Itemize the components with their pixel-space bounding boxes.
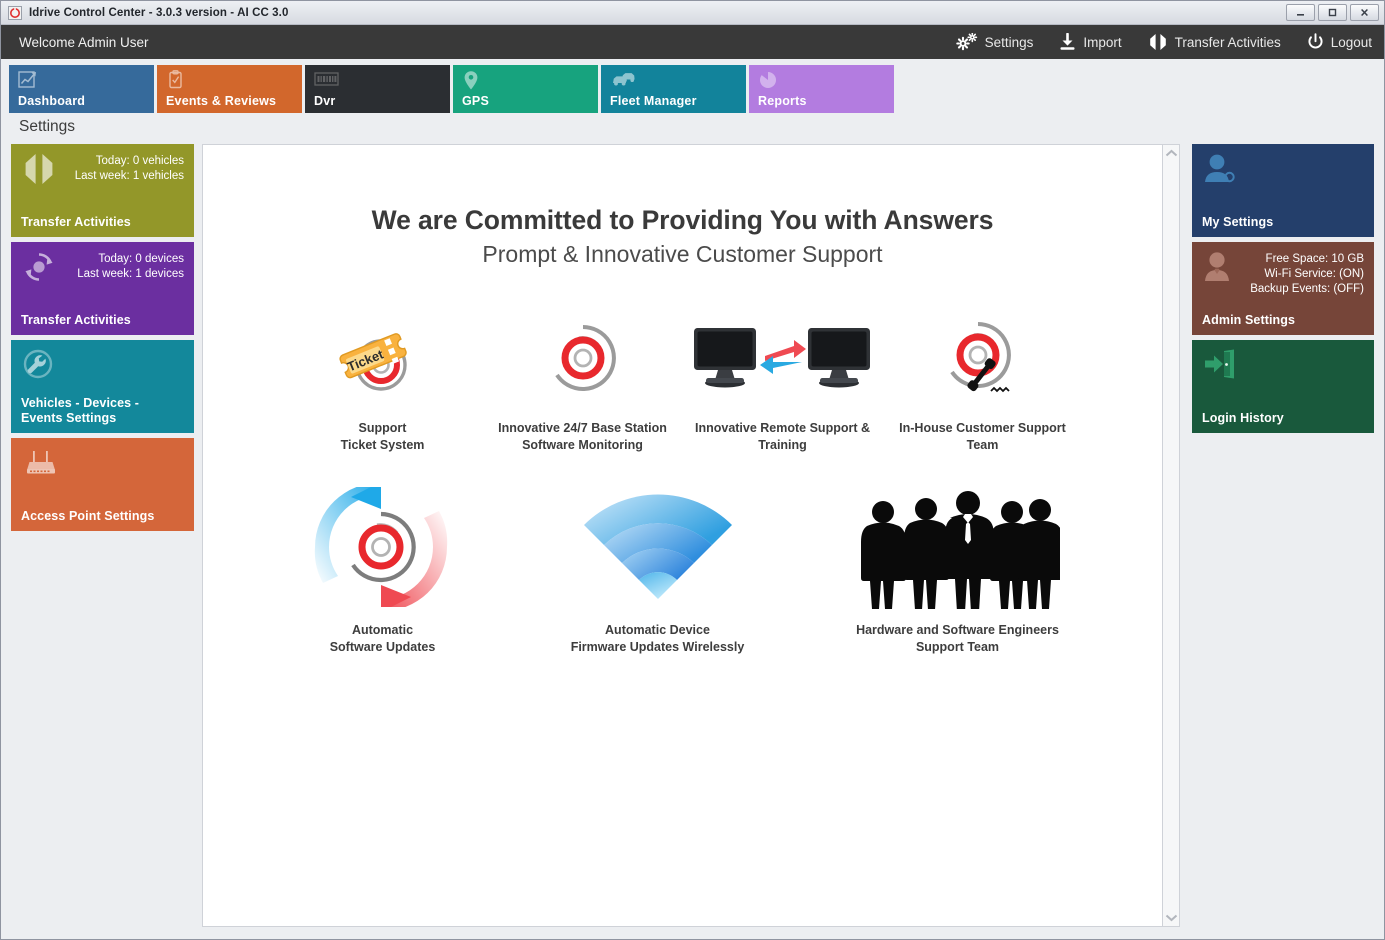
- clipboard-check-icon: [166, 70, 188, 95]
- engineers-team-icon: [855, 482, 1060, 612]
- tab-reports-label: Reports: [758, 94, 807, 108]
- feature-remote-support-training: Innovative Remote Support & Training: [683, 308, 883, 454]
- map-pin-icon: [462, 70, 480, 97]
- tile-access-point-settings[interactable]: Access Point Settings: [11, 438, 194, 531]
- app-header: Welcome Admin User: [1, 25, 1384, 59]
- close-button[interactable]: [1350, 4, 1379, 21]
- tile-label: Transfer Activities: [21, 313, 184, 328]
- content-area: Today: 0 vehicles Last week: 1 vehicles …: [1, 144, 1384, 939]
- tile-stats: Today: 0 vehicles Last week: 1 vehicles: [75, 152, 184, 184]
- tab-dvr-label: Dvr: [314, 94, 335, 108]
- app-logo-icon: [8, 6, 22, 20]
- feature-label: Support Ticket System: [341, 420, 425, 454]
- feature-label: Automatic Software Updates: [330, 622, 436, 656]
- feature-label-line1: Innovative 24/7 Base Station: [498, 420, 667, 437]
- feature-row-1: Ticket Support: [233, 308, 1132, 454]
- feature-engineers-support-team: Hardware and Software Engineers Support …: [808, 482, 1108, 656]
- tab-gps[interactable]: GPS: [453, 65, 598, 113]
- tile-label: My Settings: [1202, 215, 1364, 230]
- welcome-message: Welcome Admin User: [19, 35, 149, 50]
- feature-label: Hardware and Software Engineers Support …: [856, 622, 1059, 656]
- promo-heading: We are Committed to Providing You with A…: [233, 205, 1132, 235]
- feature-label-line2: Ticket System: [341, 437, 425, 454]
- header-menu: Settings Import: [956, 33, 1372, 51]
- tab-dvr[interactable]: Dvr: [305, 65, 450, 113]
- transfer-arrows-icon: [21, 152, 57, 191]
- tile-stat-line: Today: 0 devices: [77, 252, 184, 267]
- login-arrow-icon: [1202, 348, 1238, 385]
- tile-stats: Free Space: 10 GB Wi-Fi Service: (ON) Ba…: [1250, 250, 1364, 297]
- feature-label-line1: Hardware and Software Engineers: [856, 622, 1059, 639]
- tile-vehicles-devices-events-settings[interactable]: Vehicles - Devices - Events Settings: [11, 340, 194, 433]
- feature-support-ticket-system: Ticket Support: [283, 308, 483, 454]
- feature-label-line1: Automatic Device: [571, 622, 745, 639]
- admin-user-icon: [1202, 250, 1236, 289]
- phone-support-icon: [935, 308, 1031, 408]
- feature-label: In-House Customer Support Team: [899, 420, 1066, 454]
- feature-label-line2: Software Monitoring: [498, 437, 667, 454]
- tab-events-reviews[interactable]: Events & Reviews: [157, 65, 302, 113]
- window-controls: [1286, 4, 1382, 21]
- base-station-monitor-icon: [540, 308, 626, 408]
- window-title: Idrive Control Center - 3.0.3 version - …: [29, 7, 288, 19]
- tab-reports[interactable]: Reports: [749, 65, 894, 113]
- feature-label-line2: Support Team: [856, 639, 1059, 656]
- tile-label: Login History: [1202, 411, 1364, 426]
- remote-support-icon: [690, 308, 875, 408]
- tab-fleet-manager[interactable]: Fleet Manager: [601, 65, 746, 113]
- feature-label: Innovative 24/7 Base Station Software Mo…: [498, 420, 667, 454]
- feature-automatic-software-updates: Automatic Software Updates: [258, 482, 508, 656]
- tile-my-settings[interactable]: My Settings: [1192, 144, 1374, 237]
- feature-label-line1: Support: [341, 420, 425, 437]
- tile-stats: Today: 0 devices Last week: 1 devices: [77, 250, 184, 282]
- tab-gps-label: GPS: [462, 94, 489, 108]
- header-transfer-activities-button[interactable]: Transfer Activities: [1148, 33, 1281, 51]
- feature-label-line2: Software Updates: [330, 639, 436, 656]
- tile-stat-line: Last week: 1 vehicles: [75, 169, 184, 184]
- software-update-icon: [293, 482, 473, 612]
- application-window: Idrive Control Center - 3.0.3 version - …: [0, 0, 1385, 940]
- feature-label: Innovative Remote Support & Training: [695, 420, 870, 454]
- main-panel: We are Committed to Providing You with A…: [202, 144, 1163, 927]
- promo-subheading: Prompt & Innovative Customer Support: [233, 241, 1132, 267]
- vertical-scrollbar[interactable]: [1163, 144, 1180, 927]
- feature-base-station-monitoring: Innovative 24/7 Base Station Software Mo…: [483, 308, 683, 454]
- user-gear-icon: [1202, 152, 1240, 191]
- tab-dashboard[interactable]: Dashboard: [9, 65, 154, 113]
- scroll-down-icon[interactable]: [1165, 913, 1178, 922]
- tile-label: Vehicles - Devices - Events Settings: [21, 396, 184, 426]
- tile-label: Admin Settings: [1202, 313, 1364, 328]
- feature-in-house-customer-support: In-House Customer Support Team: [883, 308, 1083, 454]
- sync-device-icon: [21, 250, 57, 289]
- tile-stat-line: Last week: 1 devices: [77, 267, 184, 282]
- minimize-button[interactable]: [1286, 4, 1315, 21]
- header-logout-label: Logout: [1331, 35, 1372, 50]
- title-bar: Idrive Control Center - 3.0.3 version - …: [1, 1, 1384, 25]
- feature-label-line1: Automatic: [330, 622, 436, 639]
- tile-stat-line: Today: 0 vehicles: [75, 154, 184, 169]
- router-icon: [21, 446, 61, 483]
- tab-events-reviews-label: Events & Reviews: [166, 94, 276, 108]
- wifi-icon: [578, 482, 738, 612]
- tile-admin-settings[interactable]: Free Space: 10 GB Wi-Fi Service: (ON) Ba…: [1192, 242, 1374, 335]
- tile-stat-line: Free Space: 10 GB: [1250, 252, 1364, 267]
- header-logout-button[interactable]: Logout: [1307, 33, 1372, 51]
- maximize-button[interactable]: [1318, 4, 1347, 21]
- header-import-button[interactable]: Import: [1059, 33, 1121, 51]
- support-ticket-icon: Ticket: [335, 308, 431, 408]
- header-settings-button[interactable]: Settings: [956, 33, 1034, 51]
- feature-row-2: Automatic Software Updates: [233, 482, 1132, 656]
- header-transfer-label: Transfer Activities: [1175, 35, 1281, 50]
- page-title: Settings: [1, 116, 1384, 144]
- pie-chart-icon: [758, 70, 778, 95]
- tab-dashboard-label: Dashboard: [18, 94, 85, 108]
- tile-login-history[interactable]: Login History: [1192, 340, 1374, 433]
- download-icon: [1059, 33, 1076, 51]
- tile-label: Access Point Settings: [21, 509, 184, 524]
- transfer-arrows-icon: [1148, 33, 1168, 51]
- tile-label: Transfer Activities: [21, 215, 184, 230]
- tile-transfer-activities-devices[interactable]: Today: 0 devices Last week: 1 devices Tr…: [11, 242, 194, 335]
- promo-content: We are Committed to Providing You with A…: [203, 145, 1162, 656]
- feature-automatic-firmware-updates: Automatic Device Firmware Updates Wirele…: [508, 482, 808, 656]
- tab-fleet-manager-label: Fleet Manager: [610, 94, 697, 108]
- feature-label-line2: Training: [695, 437, 870, 454]
- feature-label-line1: In-House Customer Support: [899, 420, 1066, 437]
- wrench-icon: [21, 348, 55, 385]
- scroll-up-icon[interactable]: [1165, 149, 1178, 158]
- tile-transfer-activities-vehicles[interactable]: Today: 0 vehicles Last week: 1 vehicles …: [11, 144, 194, 237]
- feature-label: Automatic Device Firmware Updates Wirele…: [571, 622, 745, 656]
- feature-label-line1: Innovative Remote Support &: [695, 420, 870, 437]
- feature-label-line2: Firmware Updates Wirelessly: [571, 639, 745, 656]
- tile-stat-line: Backup Events: (OFF): [1250, 282, 1364, 297]
- chart-trend-icon: [18, 70, 40, 95]
- header-import-label: Import: [1083, 35, 1121, 50]
- vehicles-icon: [610, 70, 640, 95]
- power-icon: [1307, 33, 1324, 51]
- gears-icon: [956, 33, 978, 51]
- feature-label-line2: Team: [899, 437, 1066, 454]
- dvr-icon: [314, 70, 340, 95]
- main-panel-wrapper: We are Committed to Providing You with A…: [202, 144, 1180, 927]
- header-settings-label: Settings: [985, 35, 1034, 50]
- main-tab-strip: Dashboard Events & Reviews: [1, 59, 1384, 116]
- right-tile-column: My Settings Free Space: 10 GB Wi-Fi Serv…: [1192, 144, 1374, 927]
- tile-stat-line: Wi-Fi Service: (ON): [1250, 267, 1364, 282]
- left-tile-column: Today: 0 vehicles Last week: 1 vehicles …: [11, 144, 194, 927]
